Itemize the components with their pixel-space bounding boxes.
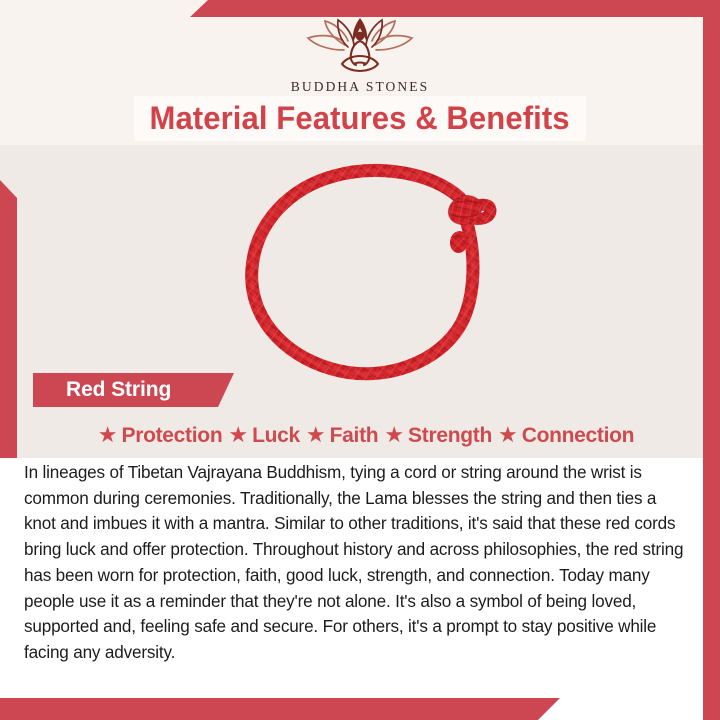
product-name-label: Red String (66, 378, 171, 402)
star-icon: ★ (306, 424, 326, 446)
benefit-item: ★ Luck (228, 424, 300, 448)
star-icon: ★ (98, 424, 118, 446)
star-icon: ★ (384, 424, 404, 446)
benefit-label: Protection (122, 424, 223, 448)
decorative-bar-right (703, 0, 720, 720)
decorative-bar-left (0, 180, 17, 458)
red-braided-string-bracelet (228, 158, 514, 383)
product-name-ribbon: Red String (33, 373, 234, 407)
benefit-item: ★ Faith (306, 424, 378, 448)
brand-logo: BUDDHA STONES (0, 14, 720, 95)
benefit-label: Faith (330, 424, 379, 448)
benefit-item: ★ Strength (384, 424, 492, 448)
lotus-meditation-icon (302, 14, 418, 76)
page-title: Material Features & Benefits (150, 100, 570, 137)
brand-wordmark: BUDDHA STONES (291, 79, 429, 95)
benefit-label: Connection (522, 424, 635, 448)
benefit-label: Strength (408, 424, 492, 448)
benefit-item: ★ Connection (498, 424, 634, 448)
page-title-band: Material Features & Benefits (134, 96, 586, 141)
decorative-bar-bottom (0, 698, 560, 720)
benefit-item: ★ Protection (98, 424, 223, 448)
star-icon: ★ (228, 424, 248, 446)
infographic-page: BUDDHA STONES Material Features & Benefi… (0, 0, 720, 720)
star-icon: ★ (498, 424, 518, 446)
benefits-row: ★ Protection ★ Luck ★ Faith ★ Strength ★… (30, 420, 702, 452)
benefit-label: Luck (252, 424, 300, 448)
description-paragraph: In lineages of Tibetan Vajrayana Buddhis… (24, 460, 686, 666)
